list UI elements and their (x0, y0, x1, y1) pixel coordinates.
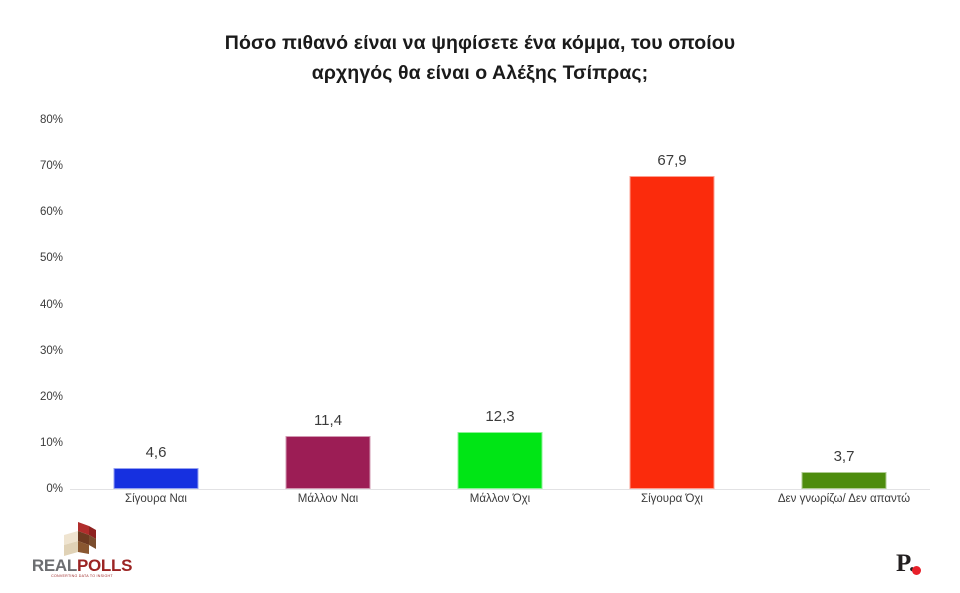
bar-1[interactable] (114, 468, 199, 489)
realpolls-cube-icon (56, 521, 104, 557)
bar-3[interactable] (458, 432, 543, 489)
bar-slot: 67,9 (586, 120, 758, 489)
bar-value-label: 4,6 (146, 444, 167, 462)
protothema-logo: P. (896, 551, 930, 577)
x-axis-baseline (70, 489, 930, 490)
y-axis-tick: 30% (0, 345, 63, 357)
bar-slot: 11,4 (242, 120, 414, 489)
y-axis-tick: 10% (0, 437, 63, 449)
bar-2[interactable] (286, 436, 371, 489)
bar-slot: 12,3 (414, 120, 586, 489)
x-axis-tick: Σίγουρα Όχι (586, 493, 758, 505)
x-axis: Σίγουρα ΝαιΜάλλον ΝαιΜάλλον ΌχιΣίγουρα Ό… (70, 493, 930, 515)
realpolls-wordmark: REALPOLLS (26, 557, 138, 575)
x-axis-tick: Μάλλον Ναι (242, 493, 414, 505)
realpolls-tagline: CONVERTING DATA TO INSIGHT (26, 574, 138, 578)
y-axis-tick: 60% (0, 206, 63, 218)
chart-title-line-2: αρχηγός θα είναι ο Αλέξης Τσίπρας; (0, 58, 960, 88)
bar-value-label: 12,3 (485, 408, 514, 426)
x-axis-tick: Σίγουρα Ναι (70, 493, 242, 505)
bar-value-label: 11,4 (314, 412, 342, 430)
chart-page: { "chart_data": { "type": "bar", "title"… (0, 0, 960, 593)
y-axis-tick: 40% (0, 299, 63, 311)
bar-slot: 4,6 (70, 120, 242, 489)
x-axis-tick: Μάλλον Όχι (414, 493, 586, 505)
y-axis: 0%10%20%30%40%50%60%70%80% (0, 120, 63, 490)
bars-container: 4,611,412,367,93,7 (70, 120, 930, 489)
y-axis-tick: 0% (0, 483, 63, 495)
bar-value-label: 3,7 (834, 448, 855, 466)
chart-title: Πόσο πιθανό είναι να ψηφίσετε ένα κόμμα,… (0, 28, 960, 88)
realpolls-logo: REALPOLLS CONVERTING DATA TO INSIGHT (26, 521, 138, 577)
realpolls-word-polls: POLLS (77, 556, 132, 575)
chart-title-line-1: Πόσο πιθανό είναι να ψηφίσετε ένα κόμμα,… (0, 28, 960, 58)
y-axis-tick: 50% (0, 252, 63, 264)
y-axis-tick: 70% (0, 160, 63, 172)
y-axis-tick: 80% (0, 114, 63, 126)
bar-4[interactable] (630, 176, 715, 489)
bar-value-label: 67,9 (657, 152, 686, 170)
y-axis-tick: 20% (0, 391, 63, 403)
realpolls-word-real: REAL (32, 556, 77, 575)
bar-slot: 3,7 (758, 120, 930, 489)
protothema-dot-icon (912, 566, 921, 575)
bar-5[interactable] (802, 472, 887, 489)
x-axis-tick: Δεν γνωρίζω/ Δεν απαντώ (758, 493, 930, 505)
